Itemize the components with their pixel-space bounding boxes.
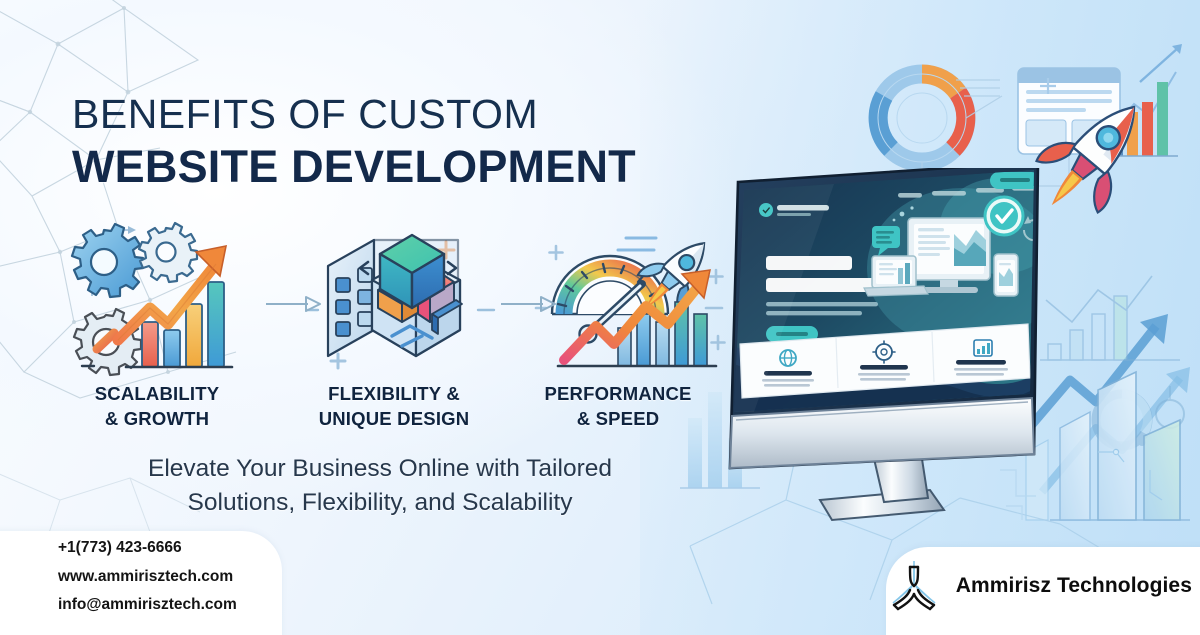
speedometer-rocket-chart-icon [534, 218, 709, 383]
feature-labels: SCALABILITY & GROWTH FLEXIBILITY & UNIQU… [56, 382, 756, 444]
feature-icon-row [56, 218, 756, 388]
connector-arrow-1 [264, 294, 322, 314]
feature-label-flexibility: FLEXIBILITY & UNIQUE DESIGN [274, 382, 514, 431]
subtitle-line2: Solutions, Flexibility, and Scalability [60, 486, 700, 520]
monitor-mockup [712, 168, 1042, 538]
subtitle: Elevate Your Business Online with Tailor… [60, 452, 700, 520]
headline-line2: WEBSITE DEVELOPMENT [72, 142, 752, 192]
brand: Ammirisz Technologies [885, 557, 1192, 615]
contact-email[interactable]: info@ammirisztech.com [58, 591, 338, 619]
gears-growth-chart-icon [64, 218, 239, 383]
gear-large [72, 224, 143, 297]
contact-website[interactable]: www.ammirisztech.com [58, 563, 338, 591]
gear-small [139, 223, 197, 282]
donut-chart-decor [878, 74, 966, 162]
brand-name: Ammirisz Technologies [956, 574, 1192, 598]
check-badge [985, 197, 1023, 235]
feature-label-scalability: SCALABILITY & GROWTH [51, 382, 263, 431]
feature-label-performance: PERFORMANCE & SPEED [504, 382, 732, 431]
connector-arrow-2 [499, 294, 557, 314]
subtitle-line1: Elevate Your Business Online with Tailor… [60, 452, 700, 486]
tri-radial-logo-icon [885, 557, 943, 615]
contact-info: +1(773) 423-6666 www.ammirisztech.com in… [58, 534, 338, 619]
isometric-modular-blocks-icon [306, 218, 481, 383]
headline-line1: BENEFITS OF CUSTOM [72, 92, 752, 138]
headline: BENEFITS OF CUSTOM WEBSITE DEVELOPMENT [72, 92, 752, 192]
site-nav-cta [990, 172, 1040, 189]
poster-canvas: BENEFITS OF CUSTOM WEBSITE DEVELOPMENT [0, 0, 1200, 635]
contact-phone[interactable]: +1(773) 423-6666 [58, 534, 338, 562]
